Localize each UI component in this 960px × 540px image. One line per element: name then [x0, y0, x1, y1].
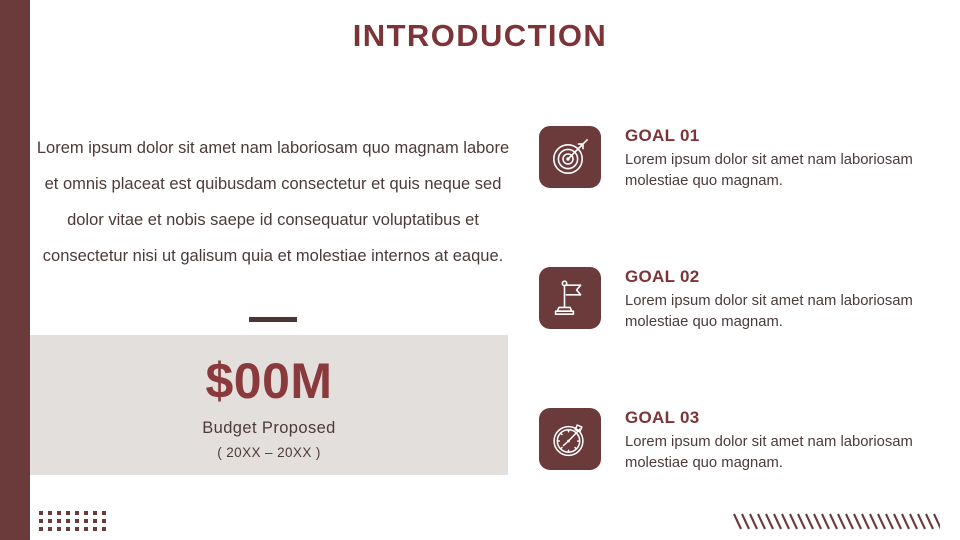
dot [75, 519, 79, 523]
goal-icon-box-02 [539, 267, 601, 329]
hatch-stripe [854, 514, 861, 529]
dot [75, 527, 79, 531]
dot [39, 511, 43, 515]
dot [93, 519, 97, 523]
budget-panel: $00M Budget Proposed ( 20XX – 20XX ) [30, 335, 508, 475]
left-accent-bar [0, 0, 30, 540]
dot [48, 519, 52, 523]
slide-canvas: INTRODUCTION Lorem ipsum dolor sit amet … [0, 0, 960, 540]
dot [84, 511, 88, 515]
goal-title-02: GOAL 02 [625, 266, 935, 288]
dot [39, 519, 43, 523]
hatch-stripe [830, 514, 837, 529]
goal-text-02: GOAL 02 Lorem ipsum dolor sit amet nam l… [625, 266, 935, 333]
stopwatch-icon [551, 420, 589, 458]
dot [66, 527, 70, 531]
intro-paragraph: Lorem ipsum dolor sit amet nam laboriosa… [36, 130, 510, 274]
budget-amount: $00M [30, 352, 508, 410]
intro-divider [249, 317, 297, 322]
hatch-stripe [782, 514, 789, 529]
hatch-stripe [806, 514, 813, 529]
hatch-stripe [758, 514, 765, 529]
dot [66, 519, 70, 523]
hatch-stripe [798, 514, 805, 529]
hatch-stripe [822, 514, 829, 529]
dot [102, 527, 106, 531]
dot [93, 527, 97, 531]
page-title: INTRODUCTION [30, 18, 930, 54]
flag-icon [552, 279, 588, 317]
goal-description-01: Lorem ipsum dolor sit amet nam laboriosa… [625, 150, 935, 192]
hatch-stripe [814, 514, 821, 529]
hatch-stripe [934, 514, 940, 529]
hatch-stripe [902, 514, 909, 529]
dot [102, 519, 106, 523]
goal-title-03: GOAL 03 [625, 407, 935, 429]
hatch-stripe [862, 514, 869, 529]
goal-item-01[interactable]: GOAL 01 Lorem ipsum dolor sit amet nam l… [539, 126, 939, 196]
dot [48, 527, 52, 531]
hatch-stripe [838, 514, 845, 529]
dot [57, 527, 61, 531]
hatch-stripe [910, 514, 917, 529]
target-icon [551, 138, 589, 176]
dot-grid-decoration [39, 511, 111, 535]
hatch-stripes-decoration [732, 513, 940, 530]
goal-item-03[interactable]: GOAL 03 Lorem ipsum dolor sit amet nam l… [539, 408, 939, 478]
hatch-stripe [926, 514, 933, 529]
hatch-stripe [894, 514, 901, 529]
dot [39, 527, 43, 531]
goal-icon-box-03 [539, 408, 601, 470]
dot [84, 527, 88, 531]
hatch-stripe [774, 514, 781, 529]
budget-period: ( 20XX – 20XX ) [30, 445, 508, 460]
goal-text-01: GOAL 01 Lorem ipsum dolor sit amet nam l… [625, 125, 935, 192]
hatch-stripe [742, 514, 749, 529]
goal-icon-box-01 [539, 126, 601, 188]
dot [75, 511, 79, 515]
hatch-stripe [878, 514, 885, 529]
hatch-stripe [734, 514, 741, 529]
goal-item-02[interactable]: GOAL 02 Lorem ipsum dolor sit amet nam l… [539, 267, 939, 337]
hatch-stripes-svg [732, 513, 940, 530]
goal-text-03: GOAL 03 Lorem ipsum dolor sit amet nam l… [625, 407, 935, 474]
budget-label: Budget Proposed [30, 419, 508, 438]
dot [84, 519, 88, 523]
dot [48, 511, 52, 515]
goal-description-03: Lorem ipsum dolor sit amet nam laboriosa… [625, 432, 935, 474]
dot [102, 511, 106, 515]
dot [57, 511, 61, 515]
hatch-stripe [918, 514, 925, 529]
hatch-stripe [766, 514, 773, 529]
hatch-stripe [846, 514, 853, 529]
hatch-stripe [750, 514, 757, 529]
hatch-stripe [790, 514, 797, 529]
goal-title-01: GOAL 01 [625, 125, 935, 147]
hatch-stripe [886, 514, 893, 529]
dot [57, 519, 61, 523]
hatch-stripe [870, 514, 877, 529]
dot [93, 511, 97, 515]
dot [66, 511, 70, 515]
goal-description-02: Lorem ipsum dolor sit amet nam laboriosa… [625, 291, 935, 333]
